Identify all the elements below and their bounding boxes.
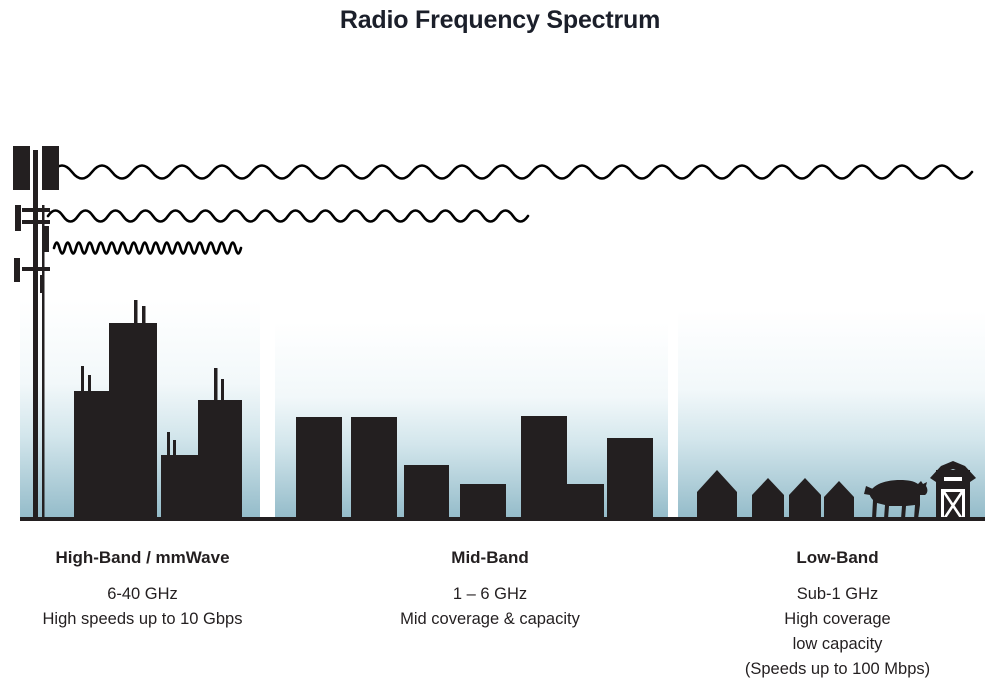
band-line: High coverage (675, 607, 1000, 632)
building-spire (173, 440, 176, 456)
building-tall (74, 391, 110, 519)
caption-mid-band: Mid-Band 1 – 6 GHz Mid coverage & capaci… (330, 547, 650, 632)
band-lines-low: Sub-1 GHz High coverage low capacity (Sp… (675, 582, 1000, 682)
band-line: Sub-1 GHz (675, 582, 1000, 607)
wave-low-frequency-path (52, 166, 972, 179)
tower-mast-secondary (42, 205, 45, 520)
caption-low-band: Low-Band Sub-1 GHz High coverage low cap… (675, 547, 1000, 682)
band-title-high: High-Band / mmWave (0, 547, 285, 569)
band-lines-high: 6-40 GHz High speeds up to 10 Gbps (0, 582, 285, 632)
building-tallest (109, 323, 157, 519)
building-spire (142, 306, 146, 325)
band-line: 1 – 6 GHz (330, 582, 650, 607)
tower-crossbar-upper (22, 208, 50, 212)
building-spire (134, 297, 138, 325)
radio-waves (48, 166, 972, 254)
building-block (404, 465, 449, 519)
building-spire (81, 366, 84, 394)
band-line: (Speeds up to 100 Mbps) (675, 657, 1000, 682)
building-block (296, 417, 342, 519)
band-line: High speeds up to 10 Gbps (0, 607, 285, 632)
band-line: low capacity (675, 632, 1000, 657)
tower-crossbar-upper2 (22, 220, 50, 224)
band-line: 6-40 GHz (0, 582, 285, 607)
band-line: Mid coverage & capacity (330, 607, 650, 632)
ground-baseline (20, 517, 985, 521)
barn-hayloft-window (944, 477, 962, 481)
tower-antenna-panel-left (13, 146, 30, 190)
tower-antenna-panel-small-lower (14, 258, 20, 282)
building-spire (167, 432, 170, 456)
building-spire (221, 379, 224, 400)
building-spire (214, 368, 218, 400)
wave-high-frequency-path (54, 243, 241, 254)
building-block (351, 417, 397, 519)
caption-high-band: High-Band / mmWave 6-40 GHz High speeds … (0, 547, 285, 632)
building-block (460, 484, 506, 519)
tower-antenna-panel-small-mid (43, 226, 49, 252)
wave-mid-frequency-path (48, 211, 528, 222)
tower-mast-foot (40, 275, 43, 293)
band-title-low: Low-Band (675, 547, 1000, 569)
band-lines-mid: 1 – 6 GHz Mid coverage & capacity (330, 582, 650, 632)
building-block (567, 484, 604, 519)
building-mid (161, 455, 198, 519)
building-block (607, 438, 653, 519)
tower-antenna-panel-right (42, 146, 59, 190)
tower-crossbar-lower (22, 267, 50, 271)
tower-antenna-panel-small-left (15, 205, 21, 231)
building-high (198, 400, 242, 519)
building-block (521, 416, 567, 519)
tower-mast (33, 150, 38, 520)
band-title-mid: Mid-Band (330, 547, 650, 569)
